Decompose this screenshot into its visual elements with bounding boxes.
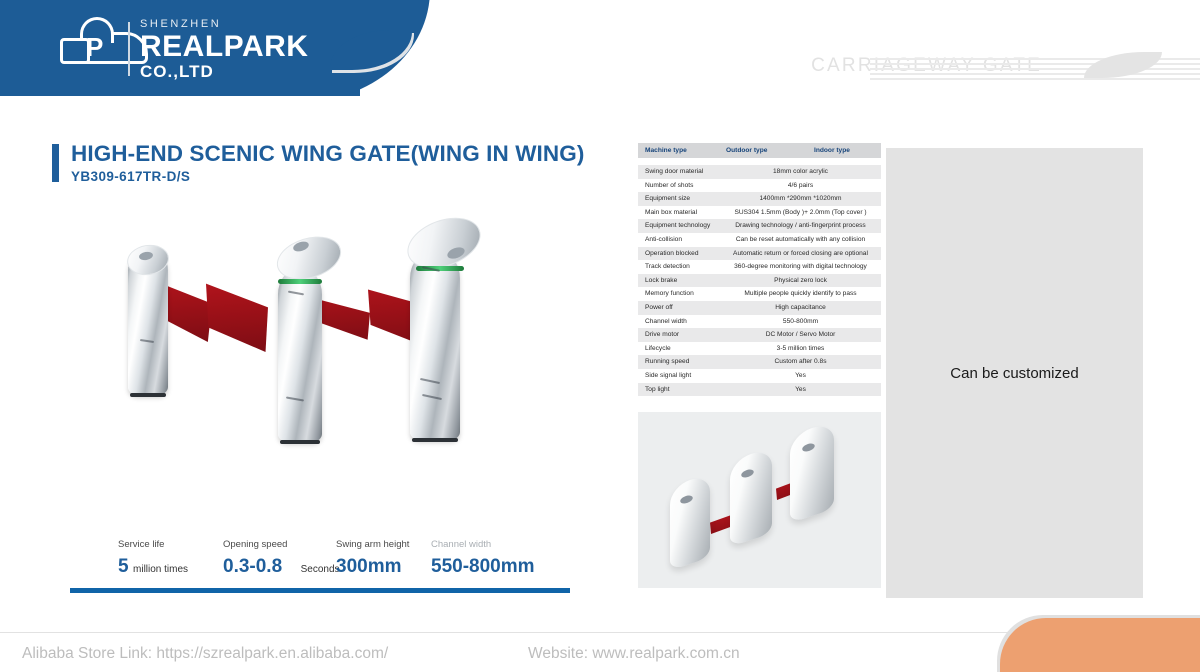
- highlight-unit: Seconds: [301, 564, 340, 575]
- table-cell-value: DC Motor / Servo Motor: [726, 328, 881, 342]
- table-row: Channel width550-800mm: [638, 315, 881, 329]
- customization-note: Can be customized: [950, 365, 1078, 382]
- table-row: Lifecycle3-5 million times: [638, 342, 881, 356]
- highlight-value: 300mm: [336, 556, 409, 579]
- section-underline: [70, 588, 570, 593]
- table-cell-key: Side signal light: [638, 369, 726, 383]
- table-cell-key: Main box material: [638, 206, 726, 220]
- website-link[interactable]: Website: www.realpark.com.cn: [528, 645, 740, 663]
- table-cell-value: 18mm color acrylic: [726, 165, 881, 179]
- highlight-number: 5: [118, 556, 129, 577]
- highlight-number: 550-800mm: [431, 556, 535, 577]
- highlight-label: Channel width: [431, 538, 535, 551]
- table-header-row: Machine type Outdoor type Indoor type: [638, 143, 881, 158]
- table-row: Lock brakePhysical zero lock: [638, 274, 881, 288]
- table-row: Power offHigh capacitance: [638, 301, 881, 315]
- table-cell-key: Track detection: [638, 260, 726, 274]
- highlight-unit: million times: [133, 564, 188, 575]
- table-cell-key: Channel width: [638, 315, 726, 329]
- status-light-ring-2: [278, 279, 322, 284]
- table-header-outdoor-type: Outdoor type: [726, 143, 810, 158]
- table-header-indoor-type: Indoor type: [810, 143, 881, 158]
- page-header: P SHENZHEN REALPARK CO.,LTD CARRIAGEWAY …: [0, 0, 1200, 96]
- table-cell-key: Swing door material: [638, 165, 726, 179]
- base-3: [412, 438, 458, 442]
- table-cell-value: 4/6 pairs: [726, 179, 881, 193]
- table-cell-value: Physical zero lock: [726, 274, 881, 288]
- pillar-2: [278, 270, 322, 442]
- base-2: [280, 440, 320, 444]
- table-row: Equipment technologyDrawing technology /…: [638, 219, 881, 233]
- table-row: Equipment size1400mm *290mm *1020mm: [638, 192, 881, 206]
- specification-table: Machine type Outdoor type Indoor type Sw…: [638, 143, 881, 396]
- table-row: Main box materialSUS304 1.5mm (Body )+ 2…: [638, 206, 881, 220]
- table-cell-value: High capacitance: [726, 301, 881, 315]
- table-cell-value: SUS304 1.5mm (Body )+ 2.0mm (Top cover ): [726, 206, 881, 220]
- table-cell-value: 1400mm *290mm *1020mm: [726, 192, 881, 206]
- table-cell-key: Number of shots: [638, 179, 726, 193]
- logo-suffix: CO.,LTD: [140, 62, 308, 81]
- table-cell-value: 3-5 million times: [726, 342, 881, 356]
- pillar-3: [410, 252, 460, 440]
- table-row: Number of shots4/6 pairs: [638, 179, 881, 193]
- table-row: Running speedCustom after 0.8s: [638, 355, 881, 369]
- table-row: Track detection360-degree monitoring wit…: [638, 260, 881, 274]
- highlight-label: Swing arm height: [336, 538, 409, 551]
- slide-page: P SHENZHEN REALPARK CO.,LTD CARRIAGEWAY …: [0, 0, 1200, 672]
- highlight-service-life: Service life 5 million times: [118, 538, 188, 581]
- base-1: [130, 393, 166, 397]
- table-cell-value: Yes: [726, 383, 881, 397]
- table-body: Swing door material18mm color acrylicNum…: [638, 165, 881, 396]
- photo-body-1: [670, 474, 710, 571]
- table-row: Memory functionMultiple people quickly i…: [638, 287, 881, 301]
- highlight-channel-width: Channel width 550-800mm: [431, 538, 535, 579]
- table-row: Side signal lightYes: [638, 369, 881, 383]
- table-cell-value: Custom after 0.8s: [726, 355, 881, 369]
- photo-body-2: [730, 447, 772, 547]
- title-accent-bar: [52, 144, 59, 182]
- table-cell-value: Yes: [726, 369, 881, 383]
- product-title: HIGH-END SCENIC WING GATE(WING IN WING): [71, 141, 584, 167]
- wing-barrier-2a: [206, 280, 268, 352]
- customization-panel: Can be customized: [886, 148, 1143, 598]
- table-gap: [638, 158, 881, 165]
- table-row: Top lightYes: [638, 383, 881, 397]
- highlight-number: 300mm: [336, 556, 402, 577]
- highlight-number: 0.3-0.8: [223, 556, 282, 577]
- table-cell-key: Equipment size: [638, 192, 726, 206]
- table-header-machine-type: Machine type: [638, 143, 726, 158]
- table-row: Swing door material18mm color acrylic: [638, 165, 881, 179]
- highlight-label: Opening speed: [223, 538, 340, 551]
- table-cell-value: Automatic return or forced closing are o…: [726, 247, 881, 261]
- table-cell-key: Running speed: [638, 355, 726, 369]
- table-cell-value: Multiple people quickly identify to pass: [726, 287, 881, 301]
- highlight-opening-speed: Opening speed 0.3-0.8 Seconds: [223, 538, 340, 581]
- table-cell-value: Drawing technology / anti-fingerprint pr…: [726, 219, 881, 233]
- table-cell-key: Operation blocked: [638, 247, 726, 261]
- logo-divider: [128, 22, 130, 76]
- highlight-value: 5 million times: [118, 556, 188, 581]
- highlight-label: Service life: [118, 538, 188, 551]
- photo-body-3: [790, 421, 834, 523]
- footer-accent-shape: [1000, 618, 1200, 672]
- table-cell-key: Power off: [638, 301, 726, 315]
- table-cell-key: Memory function: [638, 287, 726, 301]
- table-cell-key: Equipment technology: [638, 219, 726, 233]
- table-row: Drive motorDC Motor / Servo Motor: [638, 328, 881, 342]
- table-cell-key: Lifecycle: [638, 342, 726, 356]
- table-cell-key: Top light: [638, 383, 726, 397]
- logo-wordmark: SHENZHEN REALPARK CO.,LTD: [140, 18, 308, 81]
- product-hero-image: [110, 228, 540, 528]
- highlight-value: 0.3-0.8 Seconds: [223, 556, 340, 581]
- table-cell-value: 550-800mm: [726, 315, 881, 329]
- page-title: HIGH-END SCENIC WING GATE(WING IN WING) …: [52, 141, 584, 185]
- highlight-spec-strip: Service life 5 million times Opening spe…: [118, 538, 558, 582]
- highlight-value: 550-800mm: [431, 556, 535, 579]
- table-cell-key: Anti-collision: [638, 233, 726, 247]
- table-row: Operation blockedAutomatic return or for…: [638, 247, 881, 261]
- product-model: YB309-617TR-D/S: [71, 168, 584, 185]
- logo-monogram: P: [86, 34, 103, 60]
- highlight-swing-arm-height: Swing arm height 300mm: [336, 538, 409, 579]
- product-secondary-image: [638, 412, 881, 588]
- alibaba-store-link[interactable]: Alibaba Store Link: https://szrealpark.e…: [22, 645, 388, 663]
- table-row: Anti-collisionCan be reset automatically…: [638, 233, 881, 247]
- table-cell-key: Drive motor: [638, 328, 726, 342]
- table-cell-key: Lock brake: [638, 274, 726, 288]
- table-cell-value: 360-degree monitoring with digital techn…: [726, 260, 881, 274]
- logo-brand: REALPARK: [140, 31, 308, 62]
- table-cell-value: Can be reset automatically with any coll…: [726, 233, 881, 247]
